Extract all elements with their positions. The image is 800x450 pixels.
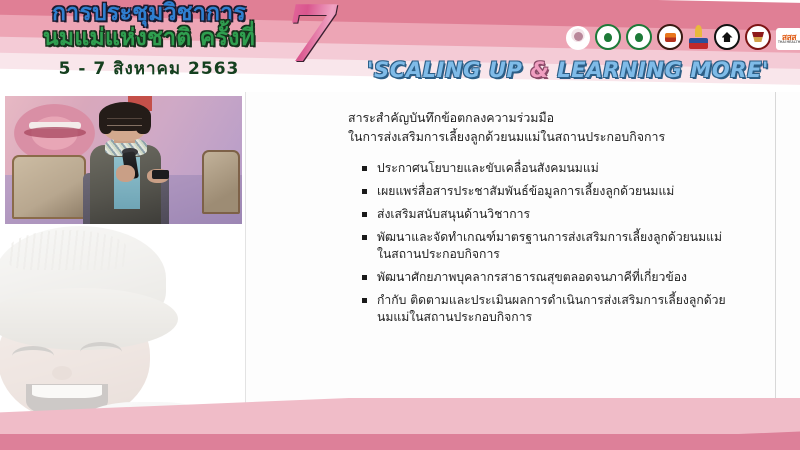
list-item: ประกาศนโยบายและขับเคลื่อนสังคมนมแม่	[362, 160, 727, 178]
lead-paragraph: สาระสำคัญบันทึกข้อตกลงความร่วมมือ ในการส…	[348, 108, 762, 146]
national-institute-crest-icon	[745, 24, 771, 50]
content-pane: สาระสำคัญบันทึกข้อตกลงความร่วมมือ ในการส…	[252, 92, 772, 450]
backdrop-lipline-graphic	[24, 127, 86, 139]
list-item: เผยแพร่สื่อสารประชาสัมพันธ์ข้อมูลการเลี้…	[362, 183, 727, 201]
thaihealth-sss-logo-icon: สสส THAI HEALTH	[776, 28, 800, 50]
lead-line-2: ในการส่งเสริมการเลี้ยงลูกด้วยนมแม่ในสถาน…	[348, 127, 762, 146]
department-of-health-logo-icon	[626, 24, 652, 50]
chair-right	[202, 150, 240, 214]
conference-tagline: 'SCALING UP & LEARNING MORE'	[352, 58, 784, 82]
conference-title-line1: การประชุมวิชาการ	[14, 2, 284, 25]
footer-base-strip	[0, 434, 800, 450]
conference-title-block: การประชุมวิชาการ นมแม่แห่งชาติ ครั้งที่ …	[14, 2, 284, 82]
speaker-glasses-icon	[107, 118, 143, 126]
partner-logos-row: สสส THAI HEALTH	[566, 24, 800, 50]
conference-date: 5 - 7 สิงหาคม 2563	[14, 55, 284, 82]
slide-header-banner: การประชุมวิชาการ นมแม่แห่งชาติ ครั้งที่ …	[0, 0, 800, 92]
media-pane	[0, 92, 245, 450]
right-edge-divider	[775, 92, 776, 450]
child-eye-right	[80, 342, 122, 362]
ministry-of-labour-emblem-icon	[657, 24, 683, 50]
edition-number: 7	[284, 0, 338, 74]
speaker-video-feed[interactable]	[5, 96, 242, 224]
royal-patronage-seal-icon	[566, 26, 590, 50]
tagline-ampersand: &	[530, 58, 549, 82]
presentation-slide: การประชุมวิชาการ นมแม่แห่งชาติ ครั้งที่ …	[0, 0, 800, 450]
child-nose	[52, 366, 72, 380]
conference-title-line2: นมแม่แห่งชาติ ครั้งที่	[14, 27, 284, 50]
chair-left	[12, 155, 85, 219]
child-hat-texture	[8, 230, 128, 270]
list-item: ส่งเสริมสนับสนุนด้านวิชาการ	[362, 206, 727, 224]
list-item: พัฒนาและจัดทำเกณฑ์มาตรฐานการส่งเสริมการเ…	[362, 229, 727, 264]
child-eye-left	[12, 346, 54, 366]
tagline-prefix: 'SCALING UP	[367, 58, 531, 82]
child-teeth	[32, 385, 102, 398]
agreement-bullet-list: ประกาศนโยบายและขับเคลื่อนสังคมนมแม่ เผยแ…	[348, 160, 762, 327]
government-crest-emblem-icon	[688, 25, 709, 50]
lead-line-1: สาระสำคัญบันทึกข้อตกลงความร่วมมือ	[348, 108, 762, 127]
list-item: พัฒนาศักยภาพบุคลากรสาธารณสุขตลอดจนภาคีที…	[362, 269, 727, 287]
slide-footer-banner	[0, 398, 800, 450]
ministry-of-public-health-logo-icon	[595, 24, 621, 50]
thaihealth-sublabel: THAI HEALTH	[778, 41, 800, 45]
social-security-office-logo-icon	[714, 24, 740, 50]
tagline-suffix: LEARNING MORE'	[549, 58, 769, 82]
list-item: กำกับ ติดตามและประเมินผลการดำเนินการส่งเ…	[362, 292, 727, 327]
child-hat-brim	[0, 288, 178, 350]
slide-body: สาระสำคัญบันทึกข้อตกลงความร่วมมือ ในการส…	[0, 92, 800, 450]
presenter-clicker-icon	[152, 170, 169, 179]
speaker-hand-left	[116, 165, 135, 182]
pane-divider	[245, 92, 246, 450]
